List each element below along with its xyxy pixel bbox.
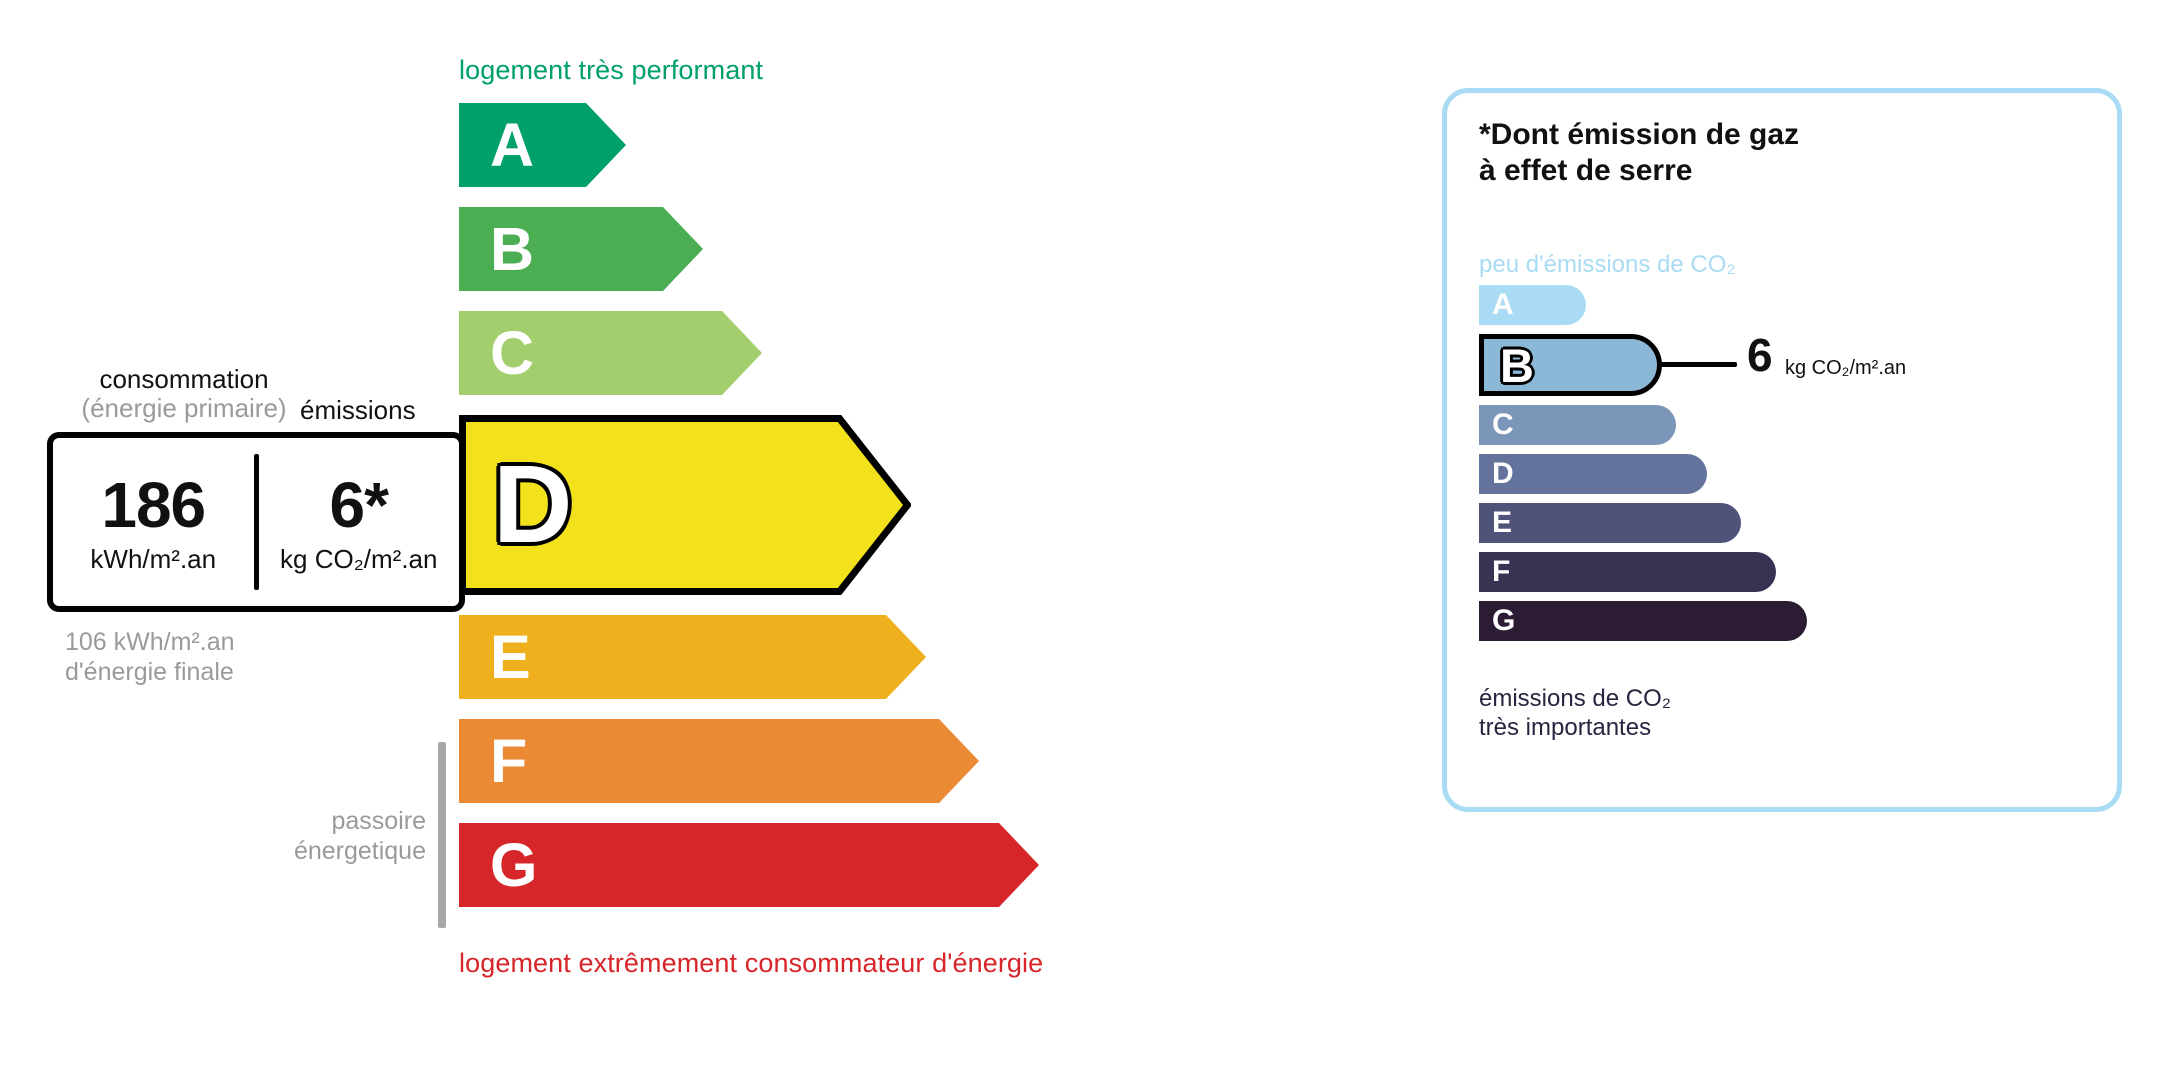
final-energy-sub: d'énergie finale — [65, 657, 235, 687]
ges-title-line-2: à effet de serre — [1479, 153, 1799, 189]
energy-class-letter-g: G — [490, 835, 537, 896]
ges-class-letter-d: D — [1492, 459, 1514, 489]
energy-class-letter-a: A — [490, 115, 534, 176]
ges-class-letter-c: C — [1492, 410, 1514, 440]
primary-energy-cell: 186 kWh/m².an — [53, 438, 254, 606]
passoire-label: passoire énergetique — [248, 806, 426, 866]
ges-bar-d: D — [1479, 454, 1707, 494]
energy-row-d: D — [459, 415, 1319, 595]
ges-panel: *Dont émission de gaz à effet de serre p… — [1442, 88, 2122, 812]
passoire-line-2: énergetique — [248, 836, 426, 866]
energy-class-letter-f: F — [490, 731, 527, 792]
energy-arrow-b: B — [459, 207, 703, 291]
ges-row-f: F — [1479, 552, 2099, 592]
energy-arrow-shape-f — [459, 719, 979, 803]
ges-class-letter-f: F — [1492, 557, 1510, 587]
energy-row-a: A — [459, 103, 1319, 187]
ges-bar-c: C — [1479, 405, 1676, 445]
passoire-bracket — [438, 742, 446, 928]
energy-row-f: F — [459, 719, 1319, 803]
ges-row-c: C — [1479, 405, 2099, 445]
energy-arrow-g: G — [459, 823, 1039, 907]
ges-callout-unit: kg CO₂/m².an — [1785, 357, 1906, 380]
energy-class-letter-b: B — [490, 219, 534, 280]
energy-arrow-f: F — [459, 719, 979, 803]
energy-arrow-e: E — [459, 615, 926, 699]
primary-energy-value: 186 — [101, 473, 205, 537]
energy-row-c: C — [459, 311, 1319, 395]
consumption-label-main: consommation — [99, 364, 268, 394]
ges-bar-b: B — [1479, 334, 1662, 396]
ges-row-b: B6kg CO₂/m².an — [1479, 334, 2099, 396]
ges-class-letter-b: B — [1500, 342, 1534, 389]
final-energy-value: 106 kWh/m².an — [65, 627, 235, 657]
ges-callout-line — [1657, 362, 1737, 367]
energy-row-b: B — [459, 207, 1319, 291]
energy-class-letter-d: D — [493, 450, 572, 560]
energy-class-letter-c: C — [490, 323, 534, 384]
ges-top-caption: peu d'émissions de CO₂ — [1479, 251, 1736, 279]
ges-class-letter-g: G — [1492, 606, 1515, 636]
emissions-label: émissions — [300, 395, 416, 426]
energy-class-letter-e: E — [490, 627, 531, 688]
energy-arrow-d: D — [459, 415, 911, 595]
emission-value: 6* — [330, 473, 389, 537]
ges-row-e: E — [1479, 503, 2099, 543]
energy-row-e: E — [459, 615, 1319, 699]
ges-bottom-line-1: émissions de CO₂ — [1479, 685, 1671, 714]
value-box: 186 kWh/m².an 6* kg CO₂/m².an — [47, 432, 465, 612]
emission-unit: kg CO₂/m².an — [280, 546, 437, 572]
energy-arrow-shape-a — [459, 103, 626, 187]
consumption-label: consommation (énergie primaire) — [64, 365, 304, 423]
ges-class-list: AB6kg CO₂/m².anCDEFG — [1479, 285, 2099, 650]
consumption-label-sub: (énergie primaire) — [64, 394, 304, 423]
ges-row-d: D — [1479, 454, 2099, 494]
passoire-line-1: passoire — [248, 806, 426, 836]
ges-title-line-1: *Dont émission de gaz — [1479, 117, 1799, 153]
ges-row-g: G — [1479, 601, 2099, 641]
ges-bar-e: E — [1479, 503, 1741, 543]
ges-bar-a: A — [1479, 285, 1586, 325]
energy-top-caption: logement très performant — [459, 55, 763, 86]
energy-arrow-shape-g — [459, 823, 1039, 907]
energy-performance-diagram: logement très performant ABCDEFG logemen… — [0, 0, 1320, 1079]
energy-bottom-caption: logement extrêmement consommateur d'éner… — [459, 948, 1043, 979]
energy-arrow-c: C — [459, 311, 762, 395]
energy-row-g: G — [459, 823, 1319, 907]
ges-bottom-line-2: très importantes — [1479, 714, 1671, 743]
ges-callout-value: 6 — [1747, 332, 1773, 378]
ges-bar-g: G — [1479, 601, 1807, 641]
ges-class-letter-e: E — [1492, 508, 1512, 538]
ges-bar-f: F — [1479, 552, 1776, 592]
ges-bottom-caption: émissions de CO₂ très importantes — [1479, 685, 1671, 743]
ges-row-a: A — [1479, 285, 2099, 325]
emission-cell: 6* kg CO₂/m².an — [259, 438, 460, 606]
primary-energy-unit: kWh/m².an — [90, 546, 216, 572]
ges-title: *Dont émission de gaz à effet de serre — [1479, 117, 1799, 189]
ges-class-letter-a: A — [1492, 290, 1514, 320]
final-energy-label: 106 kWh/m².an d'énergie finale — [65, 627, 235, 687]
energy-class-list: ABCDEFG — [459, 103, 1319, 927]
energy-arrow-a: A — [459, 103, 626, 187]
